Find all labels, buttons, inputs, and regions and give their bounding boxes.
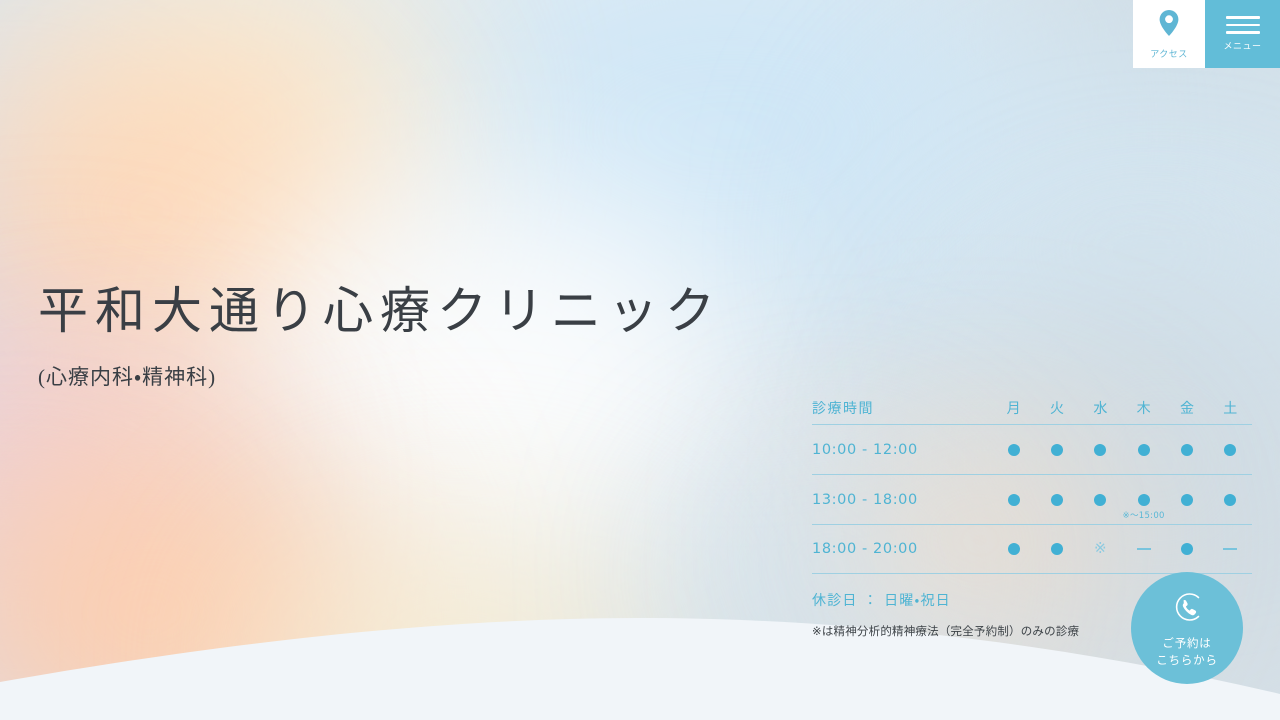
day-header: 木 <box>1122 398 1165 418</box>
day-header: 土 <box>1209 398 1252 418</box>
schedule-cell <box>1079 442 1122 458</box>
open-dot-icon <box>1094 494 1106 506</box>
schedule-cell <box>1035 442 1078 458</box>
closed-dash-icon <box>1223 548 1237 550</box>
header-nav: アクセス メニュー <box>1133 0 1280 68</box>
open-dot-icon <box>1181 543 1193 555</box>
schedule-cell <box>1122 442 1165 458</box>
hamburger-icon <box>1226 16 1260 34</box>
schedule-cell <box>1035 492 1078 508</box>
schedule-cell <box>1165 541 1208 557</box>
schedule-cell-note: ※～15:00 <box>1123 509 1165 521</box>
schedule-cell <box>1122 541 1165 557</box>
schedule-cell <box>992 541 1035 557</box>
open-dot-icon <box>1051 494 1063 506</box>
day-header: 月 <box>992 398 1035 418</box>
open-dot-icon <box>1224 444 1236 456</box>
hero-section: アクセス メニュー 平和大通り心療クリニック (心療内科・精神科) 診療時間 月… <box>0 0 1280 720</box>
clinic-name: 平和大通り心療クリニック <box>38 283 722 341</box>
open-dot-icon <box>1051 444 1063 456</box>
day-header: 金 <box>1165 398 1208 418</box>
open-dot-icon <box>1181 444 1193 456</box>
schedule-cell: ※～15:00 <box>1122 492 1165 508</box>
schedule-row-time: 10:00 - 12:00 <box>812 442 992 458</box>
schedule-row-time: 18:00 - 20:00 <box>812 541 992 557</box>
schedule-cell <box>1209 492 1252 508</box>
schedule-cell <box>1035 541 1078 557</box>
day-header: 火 <box>1035 398 1078 418</box>
open-dot-icon <box>1051 543 1063 555</box>
schedule-cell <box>992 492 1035 508</box>
open-dot-icon <box>1138 494 1150 506</box>
booking-button-label: ご予約は こちらから <box>1156 635 1218 668</box>
phone-icon <box>1168 588 1206 631</box>
schedule-day-headers: 月 火 水 木 金 土 <box>992 398 1252 418</box>
schedule-cell <box>1079 492 1122 508</box>
day-header: 水 <box>1079 398 1122 418</box>
closed-dash-icon <box>1137 548 1151 550</box>
map-pin-icon <box>1158 9 1180 42</box>
open-dot-icon <box>1008 444 1020 456</box>
schedule-row-time: 13:00 - 18:00 <box>812 492 992 508</box>
menu-button[interactable]: メニュー <box>1205 0 1280 68</box>
asterisk-mark-icon: ※ <box>1094 539 1107 557</box>
booking-button[interactable]: ご予約は こちらから <box>1131 572 1243 684</box>
booking-label-line1: ご予約は <box>1156 635 1218 652</box>
open-dot-icon <box>1008 494 1020 506</box>
schedule-cell: ※ <box>1079 541 1122 557</box>
open-dot-icon <box>1181 494 1193 506</box>
schedule-row: 18:00 - 20:00 ※ <box>812 524 1252 574</box>
menu-button-label: メニュー <box>1223 39 1261 52</box>
schedule-cell <box>1165 492 1208 508</box>
open-dot-icon <box>1008 543 1020 555</box>
schedule-cell <box>992 442 1035 458</box>
schedule-header-label: 診療時間 <box>812 398 992 418</box>
clinic-subtitle: (心療内科・精神科) <box>38 361 722 391</box>
schedule-cell <box>1165 442 1208 458</box>
open-dot-icon <box>1138 444 1150 456</box>
access-button-label: アクセス <box>1150 47 1188 60</box>
schedule-cell <box>1209 541 1252 557</box>
access-button[interactable]: アクセス <box>1133 0 1205 68</box>
booking-label-line2: こちらから <box>1156 652 1218 669</box>
open-dot-icon <box>1094 444 1106 456</box>
schedule-header-row: 診療時間 月 火 水 木 金 土 <box>812 392 1252 424</box>
schedule-row: 10:00 - 12:00 <box>812 424 1252 474</box>
hero-title-block: 平和大通り心療クリニック (心療内科・精神科) <box>38 283 722 391</box>
schedule-cell <box>1209 442 1252 458</box>
open-dot-icon <box>1224 494 1236 506</box>
schedule-row: 13:00 - 18:00 ※～15:00 <box>812 474 1252 524</box>
